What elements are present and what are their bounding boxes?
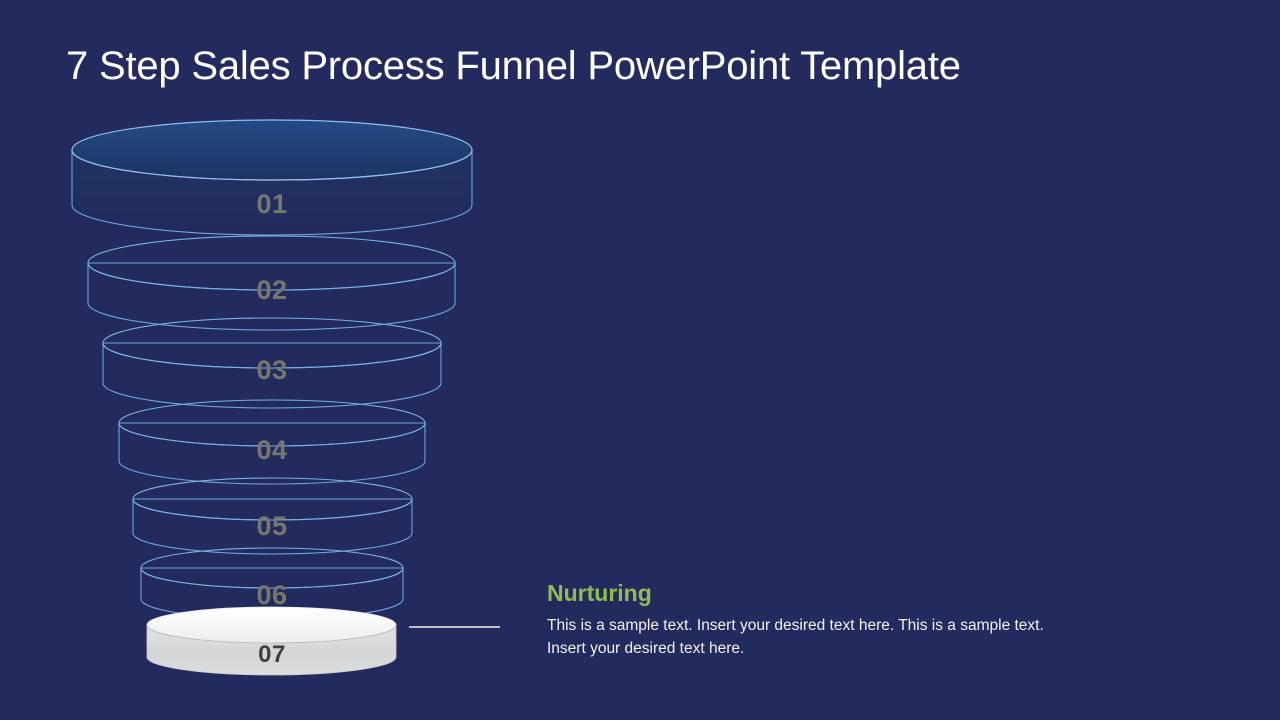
step-number-02: 02	[172, 275, 372, 306]
callout-block: Nurturing This is a sample text. Insert …	[547, 581, 1047, 660]
step-number-06: 06	[172, 580, 372, 611]
step-number-04: 04	[172, 435, 372, 466]
page-title: 7 Step Sales Process Funnel PowerPoint T…	[66, 44, 1166, 88]
step-number-05: 05	[172, 511, 372, 542]
slide-canvas: 7 Step Sales Process Funnel PowerPoint T…	[0, 0, 1280, 720]
step-number-03: 03	[172, 355, 372, 386]
callout-body-text: This is a sample text. Insert your desir…	[547, 615, 1047, 660]
callout-heading: Nurturing	[547, 581, 1047, 606]
step-number-01: 01	[172, 189, 372, 220]
step-number-07: 07	[172, 641, 372, 669]
